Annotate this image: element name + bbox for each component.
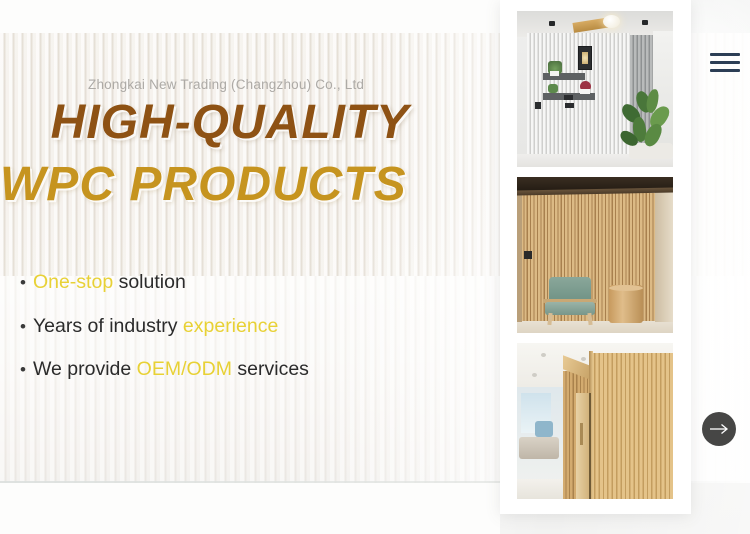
gallery-thumbnail-list bbox=[517, 11, 673, 509]
ceiling-downlight bbox=[532, 373, 537, 377]
list-item: •We provide OEM/ODM services bbox=[20, 360, 490, 380]
arrow-right-icon bbox=[709, 423, 729, 435]
hamburger-bar bbox=[710, 53, 740, 56]
ceiling-spot-light bbox=[549, 21, 555, 26]
wall-lantern bbox=[578, 46, 592, 70]
feature-bullet-list: •One-stop solution •Years of industry ex… bbox=[20, 273, 490, 404]
green-armchair bbox=[543, 277, 599, 325]
bullet-marker: • bbox=[20, 317, 26, 336]
next-slide-button[interactable] bbox=[702, 412, 736, 446]
gallery-thumbnail-1[interactable] bbox=[517, 11, 673, 167]
ceiling-downlight bbox=[541, 353, 546, 357]
ceiling-spot-light bbox=[642, 20, 648, 25]
list-item-text: We provide OEM/ODM services bbox=[33, 358, 309, 380]
ceiling-downlight bbox=[581, 357, 586, 361]
wall-switch bbox=[524, 251, 532, 259]
company-name: Zhongkai New Trading (Changzhou) Co., Lt… bbox=[88, 77, 364, 92]
wall-switch bbox=[565, 103, 574, 108]
plain-text: We provide bbox=[33, 358, 137, 380]
wall-switch bbox=[535, 102, 541, 109]
plant-pot bbox=[550, 71, 559, 76]
plant-pot bbox=[580, 89, 590, 94]
pendant-lamp bbox=[603, 15, 620, 28]
large-foliage-plant bbox=[621, 89, 673, 159]
hero-content: Zhongkai New Trading (Changzhou) Co., Lt… bbox=[0, 33, 520, 483]
hamburger-bar bbox=[710, 61, 740, 64]
list-item: •Years of industry experience bbox=[20, 317, 490, 337]
plain-text: solution bbox=[113, 271, 186, 293]
round-wooden-table bbox=[609, 285, 643, 323]
headline-line-1: HIGH-QUALITY bbox=[0, 99, 500, 148]
hamburger-bar bbox=[710, 69, 740, 72]
shelf-plant bbox=[548, 84, 558, 93]
banner-stage: Zhongkai New Trading (Changzhou) Co., Lt… bbox=[0, 0, 750, 534]
wall-switch bbox=[564, 95, 573, 100]
gallery-thumbnail-3[interactable] bbox=[517, 343, 673, 499]
headline-line-2: WPC PRODUCTS bbox=[0, 161, 500, 210]
list-item-text: One-stop solution bbox=[33, 271, 186, 293]
bullet-marker: • bbox=[20, 360, 26, 379]
gallery-card bbox=[500, 0, 691, 514]
list-item: •One-stop solution bbox=[20, 273, 490, 293]
list-item-text: Years of industry experience bbox=[33, 315, 278, 337]
sofa bbox=[519, 437, 559, 459]
plain-text: Years of industry bbox=[33, 315, 183, 337]
wall-side-frame bbox=[655, 191, 673, 322]
plain-text: services bbox=[232, 358, 309, 380]
headline: HIGH-QUALITY WPC PRODUCTS bbox=[0, 99, 500, 210]
highlighted-text: OEM/ODM bbox=[137, 358, 232, 380]
highlighted-text: One-stop bbox=[33, 271, 113, 293]
wood-panel-right-face bbox=[591, 353, 673, 499]
bullet-marker: • bbox=[20, 273, 26, 292]
wall-left-edge bbox=[517, 191, 522, 322]
gallery-thumbnail-2[interactable] bbox=[517, 177, 673, 333]
cushion bbox=[535, 421, 553, 437]
door-gap bbox=[589, 393, 591, 499]
highlighted-text: experience bbox=[183, 315, 278, 337]
hidden-door bbox=[576, 393, 590, 499]
door-handle bbox=[580, 423, 583, 445]
hamburger-menu-icon[interactable] bbox=[710, 53, 740, 72]
